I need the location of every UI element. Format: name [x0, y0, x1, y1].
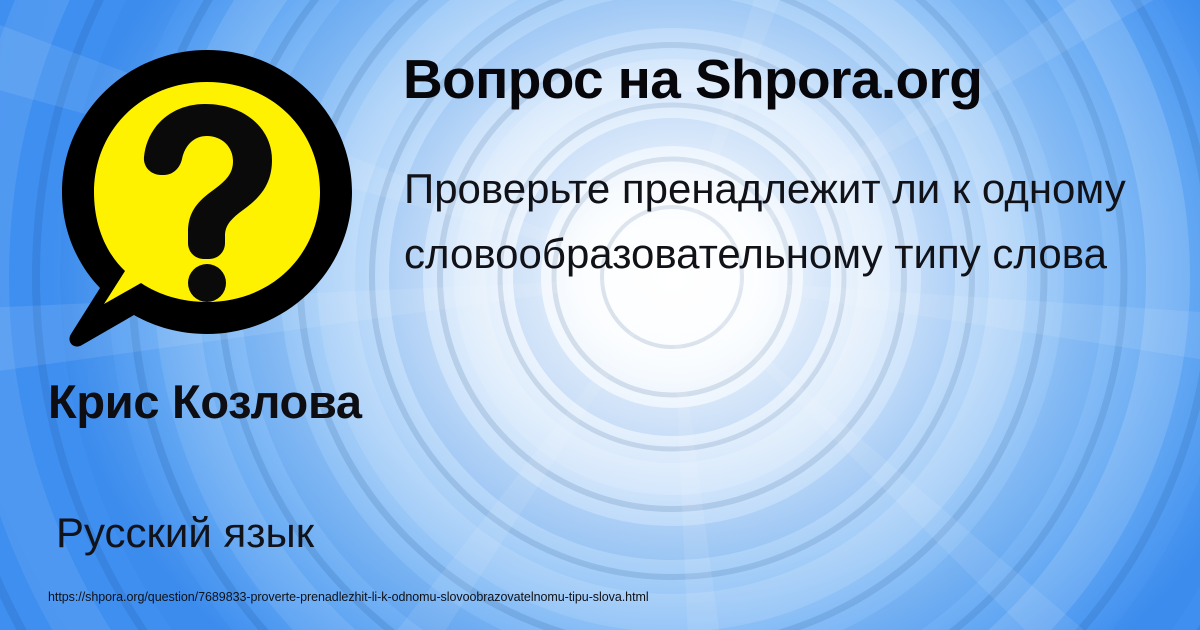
- page-title: Вопрос на Shpora.org: [403, 48, 982, 110]
- question-speech-bubble-icon: [52, 40, 362, 360]
- question-text: Проверьте пренадлежит ли к одному словоо…: [404, 156, 1164, 286]
- question-share-card: Вопрос на Shpora.org Проверьте пренадлеж…: [0, 0, 1200, 630]
- subject-label: Русский язык: [56, 508, 436, 558]
- author-name: Крис Козлова: [48, 374, 388, 430]
- page-url: https://shpora.org/question/7689833-prov…: [48, 590, 649, 604]
